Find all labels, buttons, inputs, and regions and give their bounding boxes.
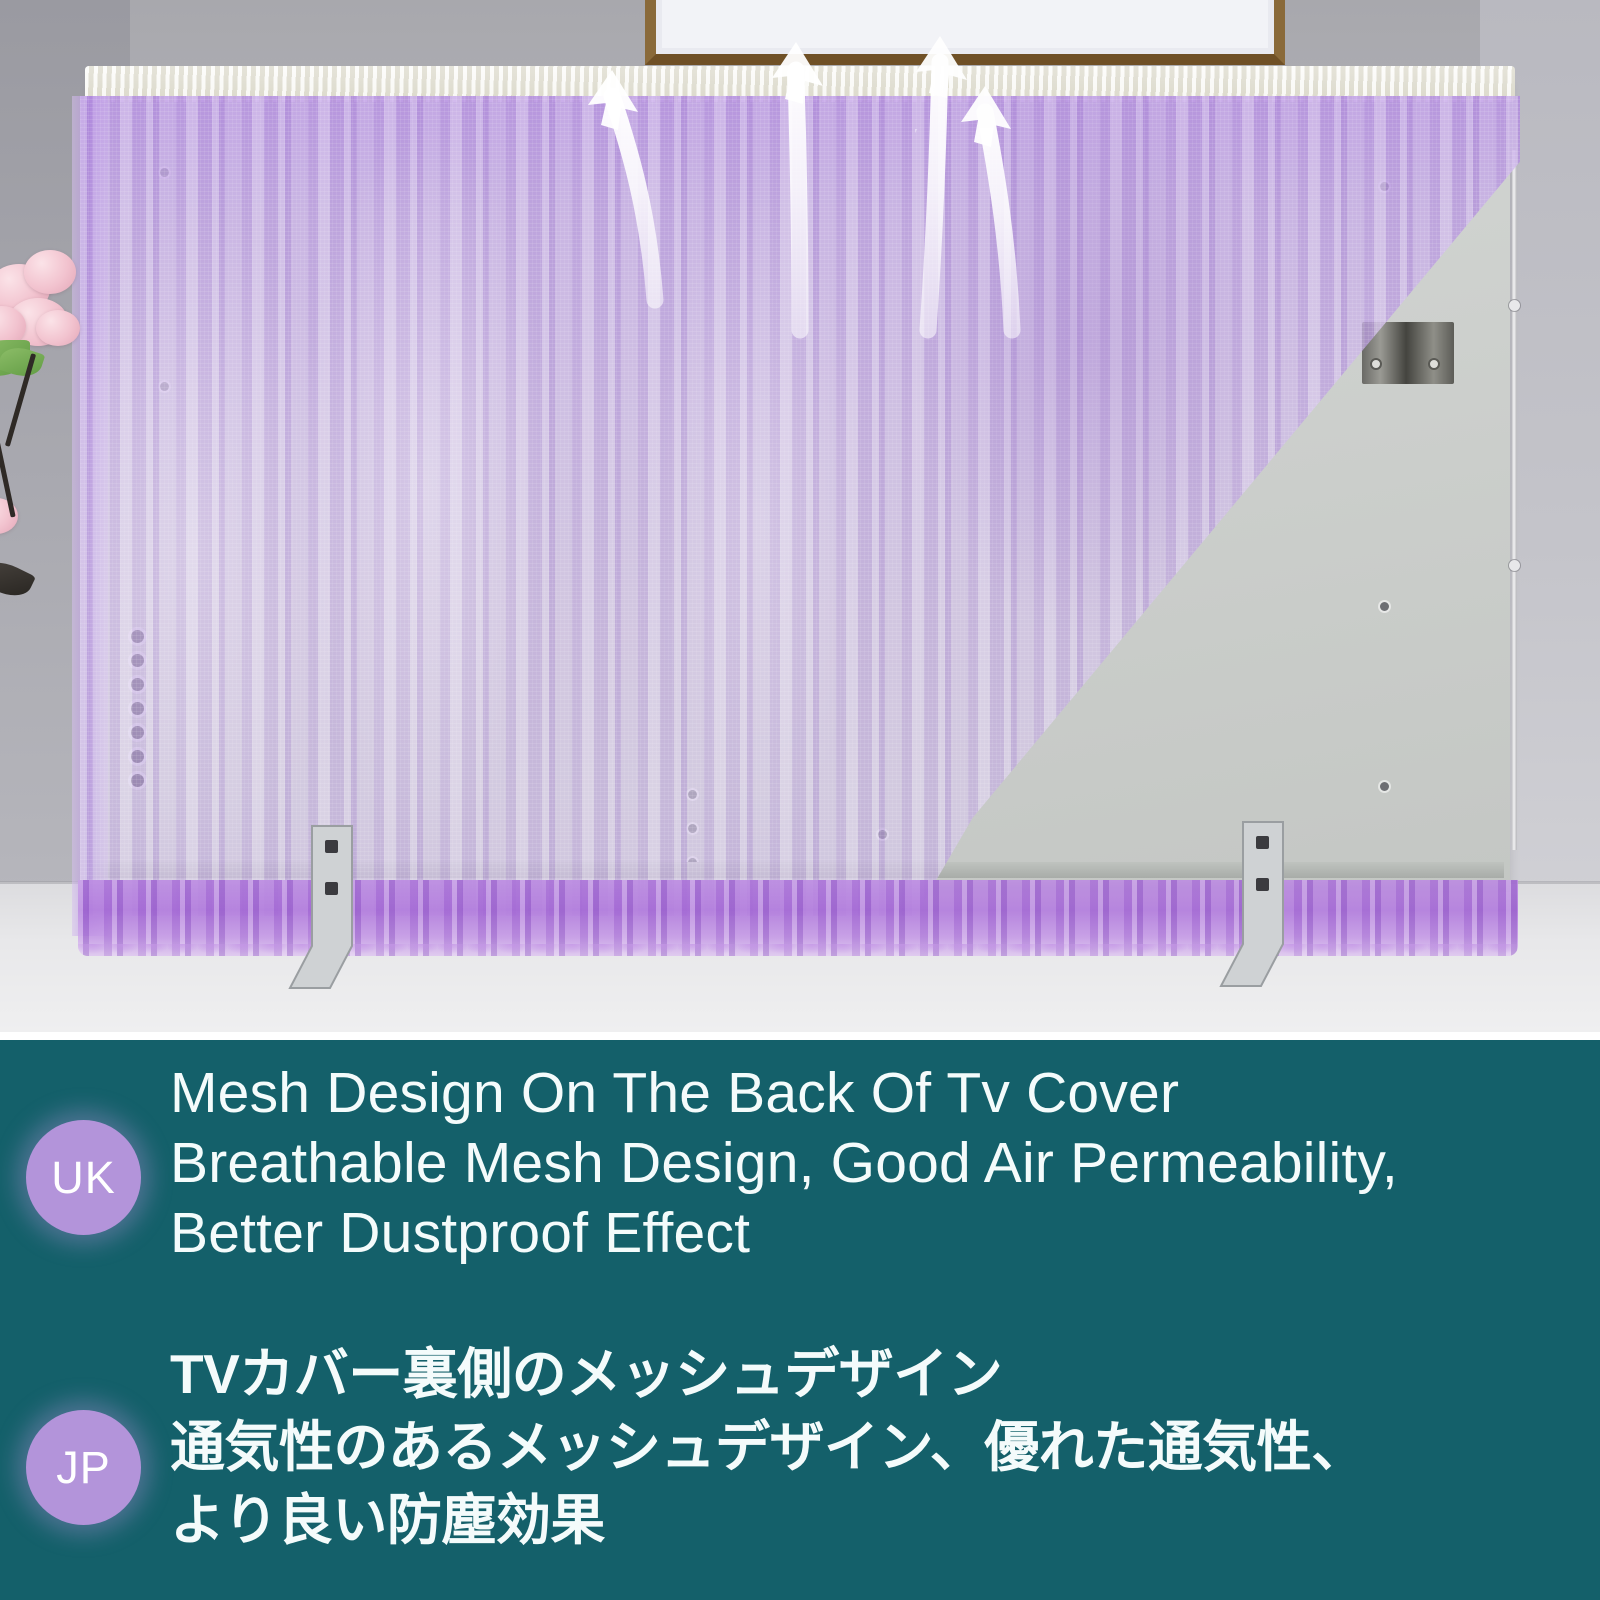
caption-jp-line-1: TVカバー裏側のメッシュデザイン — [170, 1338, 1570, 1411]
rod-knob — [1509, 560, 1520, 571]
product-photo — [0, 0, 1600, 1032]
product-feature-image: UK Mesh Design On The Back Of Tv Cover B… — [0, 0, 1600, 1600]
language-badge-jp-label: JP — [56, 1442, 111, 1494]
language-badge-uk: UK — [26, 1120, 141, 1235]
caption-text-jp: TVカバー裏側のメッシュデザイン 通気性のあるメッシュデザイン、優れた通気性、 … — [170, 1338, 1570, 1557]
caption-uk-line-3: Better Dustproof Effect — [170, 1198, 1570, 1268]
language-badge-uk-label: UK — [51, 1152, 116, 1204]
rod-knob — [1509, 300, 1520, 311]
caption-text-uk: Mesh Design On The Back Of Tv Cover Brea… — [170, 1058, 1570, 1268]
framed-picture — [645, 0, 1285, 65]
caption-uk-line-1: Mesh Design On The Back Of Tv Cover — [170, 1058, 1570, 1128]
caption-jp-line-2: 通気性のあるメッシュデザイン、優れた通気性、 — [170, 1411, 1570, 1484]
caption-uk-line-2: Breathable Mesh Design, Good Air Permeab… — [170, 1128, 1570, 1198]
language-badge-jp: JP — [26, 1410, 141, 1525]
caption-jp-line-3: より良い防塵効果 — [170, 1484, 1570, 1557]
framed-picture-mat — [662, 0, 1268, 48]
pink-peony-flowers — [0, 248, 124, 548]
support-rod — [1512, 150, 1517, 850]
caption-panel: UK Mesh Design On The Back Of Tv Cover B… — [0, 1040, 1600, 1600]
photo-caption-divider — [0, 1032, 1600, 1040]
ruffle-scallop-edge — [78, 944, 1518, 960]
